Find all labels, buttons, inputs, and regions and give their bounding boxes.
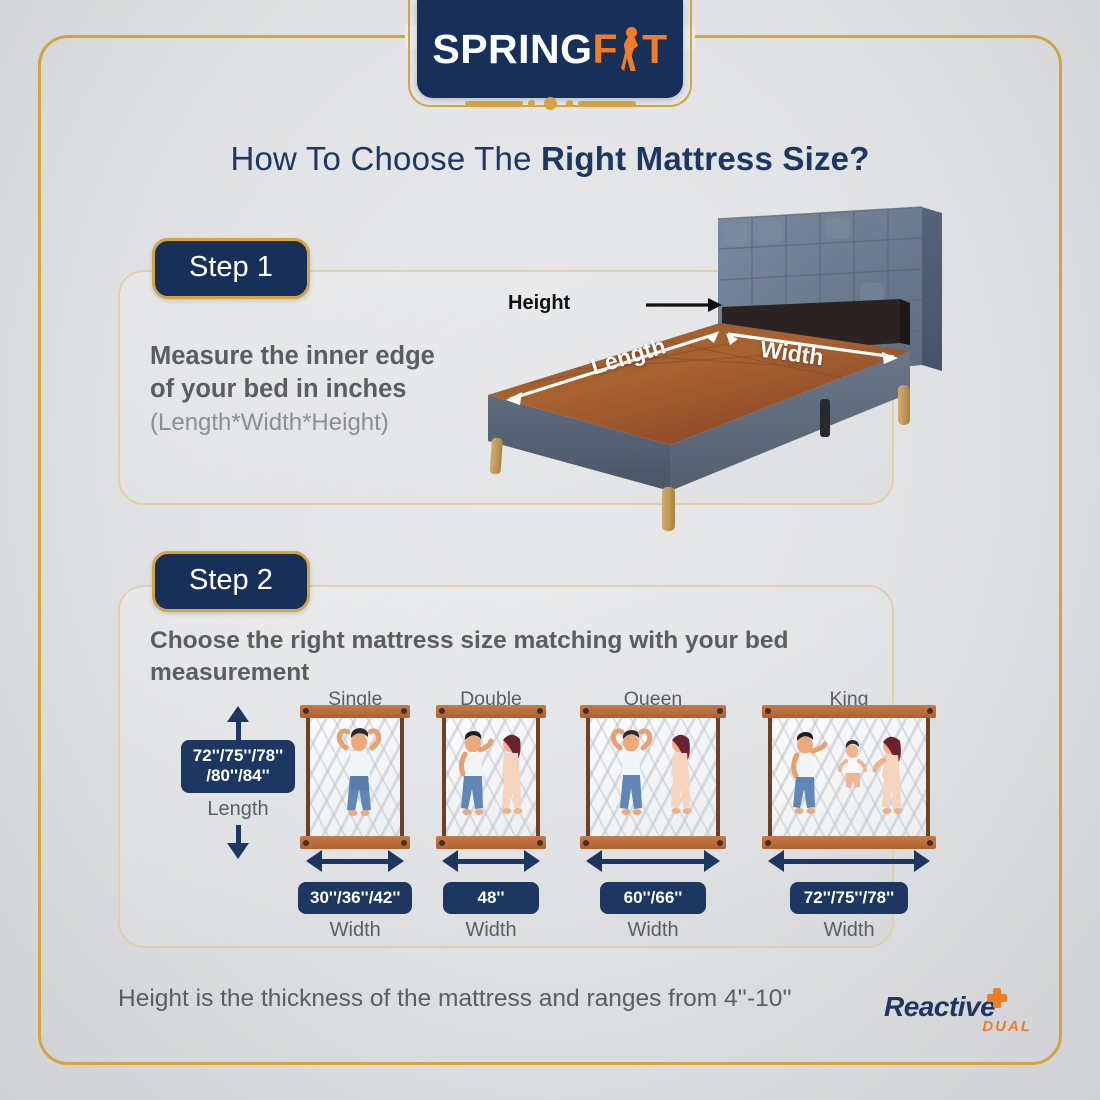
width-arrow-left-icon (306, 850, 322, 872)
width-arrow-right-icon (388, 850, 404, 872)
length-axis-label: Length (207, 798, 268, 821)
mattress-queen (586, 718, 720, 836)
single-occupant-figure (310, 718, 400, 836)
queen-width-badge: 60''/66'' (600, 882, 706, 914)
step2-description: Choose the right mattress size matching … (150, 625, 870, 690)
mattress-frame-bottom (436, 836, 546, 849)
mattress-size-comparison: 72''/75''/78'' /80''/84'' Length Single (150, 688, 890, 938)
width-arrow-stem (602, 859, 704, 864)
mattress-surface-king (772, 718, 926, 836)
bed-label-height: Height (508, 292, 570, 315)
divider-dot-small-left (528, 100, 535, 107)
mattress-king (768, 718, 930, 836)
running-figure-icon (617, 26, 643, 72)
mattress-double (442, 718, 540, 836)
bed-svg (470, 195, 990, 535)
page-title-regular: How To Choose The (230, 140, 541, 177)
double-width-label: Width (465, 919, 516, 942)
mattress-single (306, 718, 404, 836)
banner-divider-dots (0, 97, 1100, 110)
footer-note: Height is the thickness of the mattress … (118, 985, 792, 1013)
mattress-frame-top (580, 705, 726, 718)
single-width-arrow (306, 850, 404, 872)
king-occupant-figures (772, 718, 926, 836)
step1-description: Measure the inner edge of your bed in in… (150, 340, 480, 438)
reactive-dual-logo: Reactive DUAL (884, 993, 1034, 1041)
length-arrow-stem-top (236, 722, 241, 740)
step1-line-sub: (Length*Width*Height) (150, 407, 480, 438)
single-width-label: Width (330, 919, 381, 942)
size-column-queen[interactable]: Queen (586, 688, 720, 942)
width-arrow-stem (784, 859, 914, 864)
single-width-badge: 30''/36''/42'' (298, 882, 412, 914)
queen-occupant-figures (590, 718, 716, 836)
width-arrow-right-icon (524, 850, 540, 872)
mattress-frame-top (762, 705, 936, 718)
logo-t-text: T (642, 29, 668, 70)
mattress-frame-top (300, 705, 410, 718)
page-title: How To Choose The Right Mattress Size? (0, 140, 1100, 178)
queen-width-label: Width (627, 919, 678, 942)
page-title-bold: Right Mattress Size? (541, 140, 870, 177)
size-column-single[interactable]: Single (298, 688, 412, 942)
mattress-surface-single (310, 718, 400, 836)
step1-badge: Step 1 (152, 238, 310, 299)
step1-line-1: Measure the inner edge (150, 340, 480, 373)
length-value-line-1: 72''/75''/78'' (193, 746, 283, 766)
step2-badge: Step 2 (152, 551, 310, 612)
width-arrow-left-icon (586, 850, 602, 872)
mattress-surface-double (446, 718, 536, 836)
width-arrow-right-icon (914, 850, 930, 872)
length-arrow-up-icon (227, 706, 249, 722)
logo-f-text: F (593, 29, 619, 70)
width-arrow-right-icon (704, 850, 720, 872)
brand-logo-banner: SPRINGFT (417, 0, 683, 98)
brand-logo-text: SPRINGFT (432, 26, 667, 72)
length-value-badge: 72''/75''/78'' /80''/84'' (181, 740, 295, 793)
queen-width-arrow (586, 850, 720, 872)
logo-spring-text: SPRING (432, 29, 592, 70)
divider-line-right (578, 101, 636, 106)
width-arrow-stem (322, 859, 388, 864)
mattress-frame-bottom (762, 836, 936, 849)
divider-dot-large (544, 97, 557, 110)
double-width-badge: 48'' (443, 882, 539, 914)
step1-line-2: of your bed in inches (150, 373, 480, 406)
divider-dot-small-right (566, 100, 573, 107)
length-measure-group: 72''/75''/78'' /80''/84'' Length (178, 706, 298, 896)
length-arrow-down-icon (227, 843, 249, 859)
length-arrow-stem-bottom (236, 825, 241, 843)
double-occupant-figures (446, 718, 536, 836)
width-arrow-stem (458, 859, 524, 864)
mattress-frame-bottom (300, 836, 410, 849)
plus-cross-icon (987, 988, 1007, 1008)
king-width-badge: 72''/75''/78'' (790, 882, 908, 914)
double-width-arrow (442, 850, 540, 872)
mattress-surface-queen (590, 718, 716, 836)
king-width-label: Width (823, 919, 874, 942)
size-column-king[interactable]: King (768, 688, 930, 942)
divider-line-left (465, 101, 523, 106)
width-arrow-left-icon (768, 850, 784, 872)
king-width-arrow (768, 850, 930, 872)
mattress-frame-top (436, 705, 546, 718)
bed-illustration: Height Length Width (470, 195, 990, 535)
bed-height-arrow (646, 298, 722, 312)
reactive-logo-main: Reactive (884, 993, 1034, 1021)
mattress-frame-bottom (580, 836, 726, 849)
length-value-line-2: /80''/84'' (193, 766, 283, 786)
width-arrow-left-icon (442, 850, 458, 872)
size-column-double[interactable]: Double (442, 688, 540, 942)
